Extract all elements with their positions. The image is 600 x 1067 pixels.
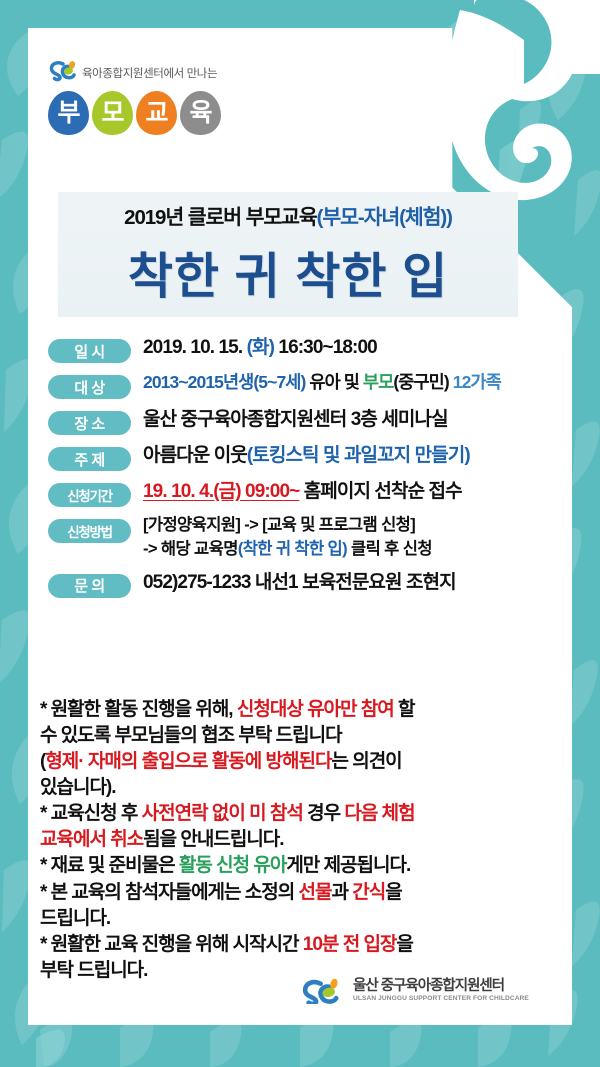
bubble-gyo: 교 [136, 91, 177, 135]
info-row: 신청방법[가정양육지원] -> [교육 및 프로그램 신청] -> 해당 교육명… [48, 514, 558, 562]
note-line: * 원활한 활동 진행을 위해, 신청대상 유아만 참여 할 [40, 697, 564, 722]
poster-title: 착한 귀 착한 입 [58, 237, 518, 308]
info-row-value: 052)275-1233 내선1 보육전문요원 조현지 [143, 569, 456, 597]
info-row: 대 상2013~2015년생(5~7세) 유아 및 부모(중구민) 12가족 [48, 370, 558, 399]
note-line: 있습니다). [40, 775, 564, 800]
notes-block: * 원활한 활동 진행을 위해, 신청대상 유아만 참여 할수 있도록 부모님들… [40, 697, 564, 984]
text-segment: 부탁 드립니다. [40, 960, 147, 981]
text-segment: 는 의견이 [331, 751, 401, 772]
info-row: 문 의052)275-1233 내선1 보육전문요원 조현지 [48, 569, 558, 598]
note-line: 수 있도록 부모님들의 협조 부탁 드립니다 [40, 723, 564, 748]
text-segment: (착한 귀 착한 입) [238, 540, 347, 558]
note-line: * 교육신청 후 사전연락 없이 미 참석 경우 다음 체험 [40, 801, 564, 826]
text-segment: 다음 체험 [344, 803, 414, 824]
text-segment: 2019. 10. 15. [143, 337, 247, 358]
info-row-label: 장 소 [48, 411, 131, 435]
text-segment: * 원활한 활동 진행을 위해, [40, 699, 237, 720]
bubble-yuk: 육 [180, 91, 221, 135]
text-segment: 활동 신청 유아 [179, 855, 286, 876]
text-segment: 유아 및 [305, 372, 363, 392]
text-segment: 부모 [363, 372, 393, 392]
text-segment: 아름다운 이웃 [143, 445, 247, 466]
footer-logo: 울산 중구육아종합지원센터 ULSAN JUNGGU SUPPORT CENTE… [300, 978, 529, 1004]
text-segment: 2013~2015년생(5~7세) [143, 372, 305, 392]
text-segment: 052)275-1233 내선1 보육전문요원 조현지 [143, 572, 456, 593]
note-line: (형제· 자매의 출입으로 활동에 방해된다는 의견이 [40, 749, 564, 774]
text-segment: 드립니다. [40, 908, 110, 929]
text-segment: 을 [385, 882, 401, 903]
text-segment: -> 해당 교육명 [143, 540, 238, 558]
info-row-value: [가정양육지원] -> [교육 및 프로그램 신청] -> 해당 교육명(착한 … [143, 514, 432, 562]
text-segment: * 원활한 교육 진행을 위해 시작시간 [40, 934, 303, 955]
text-segment: 10분 전 입장 [303, 934, 397, 955]
info-row-label: 문 의 [48, 574, 131, 598]
text-segment: * 재료 및 준비물은 [40, 855, 179, 876]
info-table: 일 시2019. 10. 15. (화) 16:30~18:00대 상2013~… [48, 334, 558, 605]
text-segment: 19. 10. 4.(금) 09:00~ [143, 481, 299, 502]
text-segment: [가정양육지원] -> [교육 및 프로그램 신청] [143, 516, 415, 534]
poster-subtitle: 2019년 클로버 부모교육(부모-자녀(체험)) [58, 200, 518, 230]
text-segment: * 본 교육의 참석자들에게는 소정의 [40, 882, 299, 903]
text-segment: 간식 [352, 882, 385, 903]
footer-name-korean: 울산 중구육아종합지원센터 [353, 979, 529, 994]
subtitle-accent: (부모-자녀(체험)) [317, 206, 452, 229]
text-segment: 됨을 안내드립니다. [143, 829, 283, 850]
text-segment: 16:30~18:00 [274, 337, 377, 358]
sc-logo-mark-icon [48, 60, 78, 82]
note-line: * 원활한 교육 진행을 위해 시작시간 10분 전 입장을 [40, 932, 564, 957]
text-segment: 사전연락 없이 미 참석 [142, 803, 303, 824]
brand-bubbles: 부 모 교 육 [48, 91, 308, 135]
info-row-label: 주 제 [48, 447, 131, 471]
info-row-value: 아름다운 이웃(토킹스틱 및 과일꼬지 만들기) [143, 442, 470, 470]
text-segment: 을 [396, 934, 412, 955]
note-line: * 본 교육의 참석자들에게는 소정의 선물과 간식을 [40, 880, 564, 905]
text-segment: (중구민) [393, 372, 448, 392]
brand-tagline: 육아종합지원센터에서 만나는 [82, 65, 217, 82]
text-segment: 할 [394, 699, 415, 720]
note-line: 교육에서 취소됨을 안내드립니다. [40, 827, 564, 852]
text-segment: 게만 제공됩니다. [286, 855, 410, 876]
text-segment: * 교육신청 후 [40, 803, 142, 824]
text-segment: 선물 [299, 882, 332, 903]
info-row-label: 일 시 [48, 339, 131, 363]
text-segment: 신청대상 유아만 참여 [237, 699, 394, 720]
footer-name-english: ULSAN JUNGGU SUPPORT CENTER FOR CHILDCAR… [353, 996, 529, 1003]
info-row-label: 신청기간 [48, 483, 131, 507]
subtitle-plain: 2019년 클로버 부모교육 [124, 206, 316, 229]
info-row: 신청기간19. 10. 4.(금) 09:00~ 홈페이지 선착순 접수 [48, 478, 558, 507]
info-row-value: 19. 10. 4.(금) 09:00~ 홈페이지 선착순 접수 [143, 478, 462, 506]
info-row: 주 제아름다운 이웃(토킹스틱 및 과일꼬지 만들기) [48, 442, 558, 471]
text-segment: 홈페이지 선착순 접수 [299, 481, 461, 502]
text-segment: 12가족 [449, 372, 501, 392]
text-segment: 울산 중구육아종합지원센터 3층 세미나실 [143, 409, 448, 430]
note-line: * 재료 및 준비물은 활동 신청 유아게만 제공됩니다. [40, 853, 564, 878]
text-segment: 있습니다). [40, 777, 116, 798]
text-segment: 수 있도록 부모님들의 협조 부탁 드립니다 [40, 725, 342, 746]
info-row-label: 대 상 [48, 375, 131, 399]
info-row-value: 2013~2015년생(5~7세) 유아 및 부모(중구민) 12가족 [143, 370, 501, 395]
text-segment: 형제· 자매의 출입으로 활동에 방해된다 [45, 751, 331, 772]
info-row: 장 소울산 중구육아종합지원센터 3층 세미나실 [48, 406, 558, 435]
text-segment: 과 [331, 882, 352, 903]
text-segment: 교육에서 취소 [40, 829, 143, 850]
sc-logo-mark-icon-footer [300, 978, 346, 1004]
text-segment: (토킹스틱 및 과일꼬지 만들기) [247, 445, 470, 466]
poster-root: 육아종합지원센터에서 만나는 부 모 교 육 2019년 클로버 부모교육(부모… [0, 0, 600, 1067]
bubble-bu: 부 [48, 91, 89, 135]
info-row-value: 2019. 10. 15. (화) 16:30~18:00 [143, 334, 377, 362]
text-segment: 경우 [303, 803, 345, 824]
note-line: 드립니다. [40, 906, 564, 931]
info-row-value: 울산 중구육아종합지원센터 3층 세미나실 [143, 406, 448, 434]
text-segment: 클릭 후 신청 [347, 540, 432, 558]
brand-header: 육아종합지원센터에서 만나는 부 모 교 육 [48, 60, 308, 135]
info-row: 일 시2019. 10. 15. (화) 16:30~18:00 [48, 334, 558, 363]
text-segment: (화) [247, 337, 274, 358]
bubble-mo: 모 [92, 91, 133, 135]
info-row-label: 신청방법 [48, 519, 131, 543]
